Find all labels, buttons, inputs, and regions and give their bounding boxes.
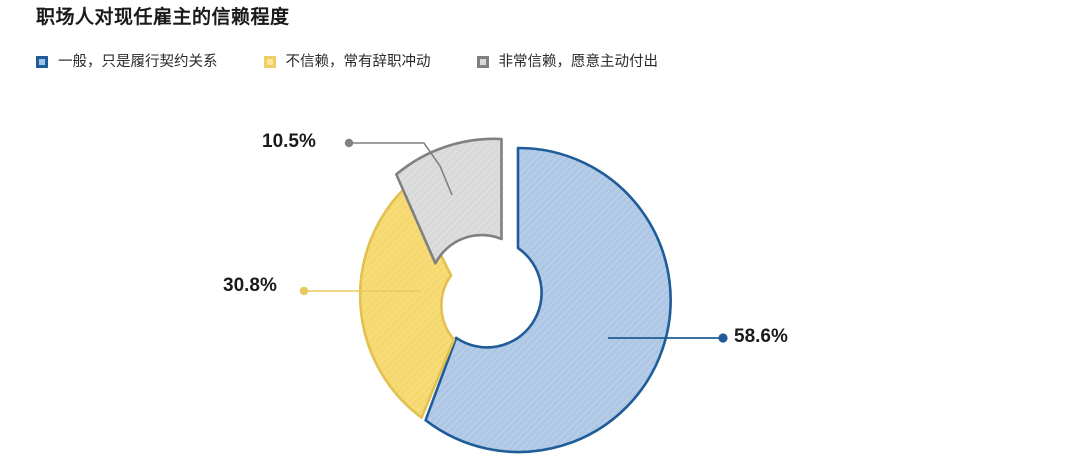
data-label-general: 58.6%	[734, 326, 788, 348]
donut-chart-graphic	[0, 0, 1079, 462]
chart-container: 职场人对现任雇主的信赖程度 一般，只是履行契约关系 不信赖，常有辞职冲动 非常信…	[0, 0, 1079, 462]
data-label-distrust: 30.8%	[223, 275, 277, 297]
data-label-trust: 10.5%	[262, 131, 316, 153]
